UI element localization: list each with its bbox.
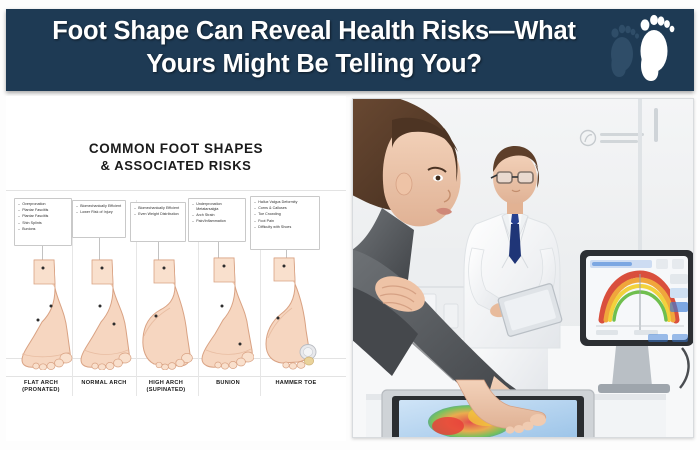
risk-item: –Even Weight Distribution [134, 212, 183, 217]
infographic-title: COMMON FOOT SHAPES & ASSOCIATED RISKS [6, 140, 346, 174]
bullet-dash-icon: – [18, 214, 21, 219]
foot-illustration-high-arch [138, 258, 194, 370]
risk-item: –Biomechanically Efficient [134, 206, 183, 211]
clinic-photo-illustration [352, 98, 694, 438]
bullet-dash-icon: – [192, 202, 195, 207]
risk-item: –Pain/Inflammation [192, 219, 243, 224]
risk-box-hammer-toe: –Hallux Valgus Deformity –Corns & Callus… [250, 196, 320, 250]
bullet-dash-icon: – [254, 219, 257, 224]
bullet-dash-icon: – [76, 204, 79, 209]
bullet-dash-icon: – [192, 213, 195, 218]
risk-item: –Biomechanically Efficient [76, 204, 123, 209]
bullet-dash-icon: – [18, 227, 21, 232]
risk-item: –Plantar Fasciitis [18, 214, 69, 219]
infographic-title-line1: COMMON FOOT SHAPES [6, 140, 346, 157]
bullet-dash-icon: – [134, 212, 137, 217]
footprint-icon-group [600, 9, 688, 91]
eyeglasses-icon [491, 172, 533, 183]
page-title-line2: Yours Might Be Telling You? [14, 48, 614, 81]
divider-top [6, 190, 346, 191]
divider-bottom [6, 376, 346, 377]
bullet-dash-icon: – [18, 202, 21, 207]
foot-label-normal-arch: NORMAL ARCH [72, 380, 136, 387]
risk-item: –Lower Risk of Injury [76, 210, 123, 215]
risk-item: –Underpronation Metatarsalgia [192, 202, 243, 211]
foot-illustration-bunion [196, 256, 254, 370]
risk-box-bunion: –Underpronation Metatarsalgia –Arch Stra… [188, 198, 246, 242]
footprint-icon-front [634, 13, 676, 83]
risk-item: –Corns & Calluses [254, 206, 317, 211]
bullet-dash-icon: – [254, 206, 257, 211]
risk-box-normal-arch: –Biomechanically Efficient –Lower Risk o… [72, 200, 126, 238]
header-banner: Foot Shape Can Reveal Health Risks—What … [6, 9, 694, 91]
risk-item: –Bunions [18, 227, 69, 232]
page-title-line1: Foot Shape Can Reveal Health Risks—What [14, 15, 614, 48]
page-root: Foot Shape Can Reveal Health Risks—What … [0, 0, 700, 450]
page-title: Foot Shape Can Reveal Health Risks—What … [14, 15, 614, 81]
risk-item: –Plantar Fasciitis [18, 208, 69, 213]
foot-label-hammer-toe: HAMMER TOE [260, 380, 332, 387]
risk-item: –Foot Pain [254, 219, 317, 224]
foot-illustration-hammer-toe [258, 256, 322, 370]
risk-item: –Hallux Valgus Deformity [254, 200, 317, 205]
foot-label-bunion: BUNION [196, 380, 260, 387]
bullet-dash-icon: – [254, 212, 257, 217]
clinic-photo [352, 98, 694, 438]
foot-label-flat-arch: FLAT ARCH (PRONATED) [6, 380, 76, 394]
foot-illustration-flat-arch [14, 258, 74, 370]
risk-item: –Arch Strain [192, 213, 243, 218]
foot-illustration-normal-arch [74, 258, 132, 370]
bullet-dash-icon: – [76, 210, 79, 215]
infographic-title-line2: & ASSOCIATED RISKS [6, 157, 346, 174]
bullet-dash-icon: – [254, 200, 257, 205]
risk-item: –Shin Splints [18, 221, 69, 226]
risk-item: –Difficulty with Shoes [254, 225, 317, 230]
bullet-dash-icon: – [18, 221, 21, 226]
bullet-dash-icon: – [254, 225, 257, 230]
bullet-dash-icon: – [192, 219, 195, 224]
bullet-dash-icon: – [134, 206, 137, 211]
risk-box-high-arch: –Biomechanically Efficient –Even Weight … [130, 202, 186, 242]
risk-item: –Overpronation [18, 202, 69, 207]
infographic-panel: COMMON FOOT SHAPES & ASSOCIATED RISKS –O… [6, 96, 346, 441]
risk-item: –Toe Crowding [254, 212, 317, 217]
foot-label-high-arch: HIGH ARCH (SUPINATED) [132, 380, 200, 394]
risk-box-flat-arch: –Overpronation –Plantar Fasciitis –Plant… [14, 198, 72, 246]
bullet-dash-icon: – [18, 208, 21, 213]
